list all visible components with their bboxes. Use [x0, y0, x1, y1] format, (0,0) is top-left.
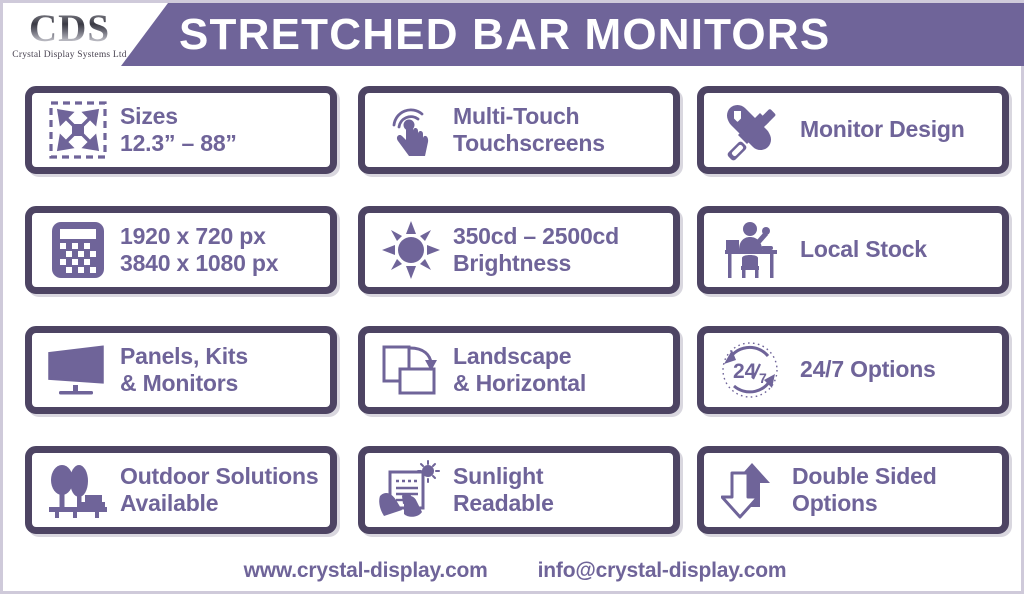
feature-line-1: 1920 x 720 px: [120, 223, 324, 250]
rotate-orientation-icon: [375, 334, 447, 406]
feature-card-sizes[interactable]: Sizes 12.3” – 88”: [25, 86, 337, 174]
feature-card-24-7[interactable]: 24 7 24/7 Options: [697, 326, 1009, 414]
feature-line-1: Landscape: [453, 343, 667, 370]
page-title: STRETCHED BAR MONITORS: [179, 3, 830, 66]
footer: www.crystal-display.com info@crystal-dis…: [3, 548, 1024, 594]
feature-card-local-stock[interactable]: Local Stock: [697, 206, 1009, 294]
feature-card-resolution[interactable]: 1920 x 720 px 3840 x 1080 px: [25, 206, 337, 294]
feature-line-2: 12.3” – 88”: [120, 130, 324, 157]
pixel-grid-icon: [42, 214, 114, 286]
desk-worker-icon: [714, 214, 786, 286]
trees-bench-icon: [42, 454, 114, 526]
email-link[interactable]: info@crystal-display.com: [538, 559, 787, 583]
feature-line-1: Outdoor Solutions: [120, 463, 324, 490]
touch-hand-icon: [375, 94, 447, 166]
feature-card-panels-kits[interactable]: Panels, Kits & Monitors: [25, 326, 337, 414]
feature-card-text: Outdoor Solutions Available: [114, 463, 324, 517]
feature-card-orientation[interactable]: Landscape & Horizontal: [358, 326, 680, 414]
svg-text:24: 24: [733, 360, 757, 383]
feature-card-double-sided[interactable]: Double Sided Options: [697, 446, 1009, 534]
twentyfour-seven-icon: 24 7: [714, 334, 786, 406]
feature-line-1: Multi-Touch: [453, 103, 667, 130]
feature-line-1: Local Stock: [800, 236, 996, 263]
feature-line-1: Monitor Design: [800, 116, 996, 143]
logo-subtitle: Crystal Display Systems Ltd: [12, 50, 126, 60]
feature-line-2: & Horizontal: [453, 370, 667, 397]
feature-grid: Sizes 12.3” – 88” Multi-Touch Touchscree…: [3, 75, 1024, 541]
feature-line-2: 3840 x 1080 px: [120, 250, 324, 277]
sun-icon: [375, 214, 447, 286]
double-arrow-icon: [714, 454, 786, 526]
feature-card-text: Panels, Kits & Monitors: [114, 343, 324, 397]
feature-line-2: Brightness: [453, 250, 667, 277]
feature-line-1: 24/7 Options: [800, 356, 996, 383]
feature-card-monitor-design[interactable]: Monitor Design: [697, 86, 1009, 174]
logo-wordmark: CDS: [29, 10, 110, 47]
feature-line-2: Available: [120, 490, 324, 517]
feature-line-2: & Monitors: [120, 370, 324, 397]
feature-line-2: Options: [792, 490, 996, 517]
feature-card-brightness[interactable]: 350cd – 2500cd Brightness: [358, 206, 680, 294]
feature-card-text: Multi-Touch Touchscreens: [447, 103, 667, 157]
feature-card-text: Local Stock: [786, 236, 996, 263]
feature-card-multi-touch[interactable]: Multi-Touch Touchscreens: [358, 86, 680, 174]
infographic-page: CDS Crystal Display Systems Ltd STRETCHE…: [0, 0, 1024, 594]
feature-line-1: Sizes: [120, 103, 324, 130]
feature-card-text: 350cd – 2500cd Brightness: [447, 223, 667, 277]
feature-card-text: Landscape & Horizontal: [447, 343, 667, 397]
feature-line-1: 350cd – 2500cd: [453, 223, 667, 250]
company-logo: CDS Crystal Display Systems Ltd: [7, 5, 132, 65]
feature-card-text: 1920 x 720 px 3840 x 1080 px: [114, 223, 324, 277]
feature-card-text: Sizes 12.3” – 88”: [114, 103, 324, 157]
feature-card-sunlight-readable[interactable]: Sunlight Readable: [358, 446, 680, 534]
monitor-icon: [42, 334, 114, 406]
svg-text:7: 7: [759, 370, 767, 386]
feature-card-outdoor[interactable]: Outdoor Solutions Available: [25, 446, 337, 534]
feature-line-1: Sunlight: [453, 463, 667, 490]
feature-card-text: Monitor Design: [786, 116, 996, 143]
header: CDS Crystal Display Systems Ltd STRETCHE…: [3, 3, 1024, 66]
feature-card-text: Sunlight Readable: [447, 463, 667, 517]
feature-line-1: Panels, Kits: [120, 343, 324, 370]
feature-line-1: Double Sided: [792, 463, 996, 490]
expand-arrows-icon: [42, 94, 114, 166]
feature-line-2: Touchscreens: [453, 130, 667, 157]
sunlight-document-icon: [375, 454, 447, 526]
feature-card-text: Double Sided Options: [786, 463, 996, 517]
feature-card-text: 24/7 Options: [786, 356, 996, 383]
feature-line-2: Readable: [453, 490, 667, 517]
website-link[interactable]: www.crystal-display.com: [244, 559, 488, 583]
wrench-screwdriver-icon: [714, 94, 786, 166]
